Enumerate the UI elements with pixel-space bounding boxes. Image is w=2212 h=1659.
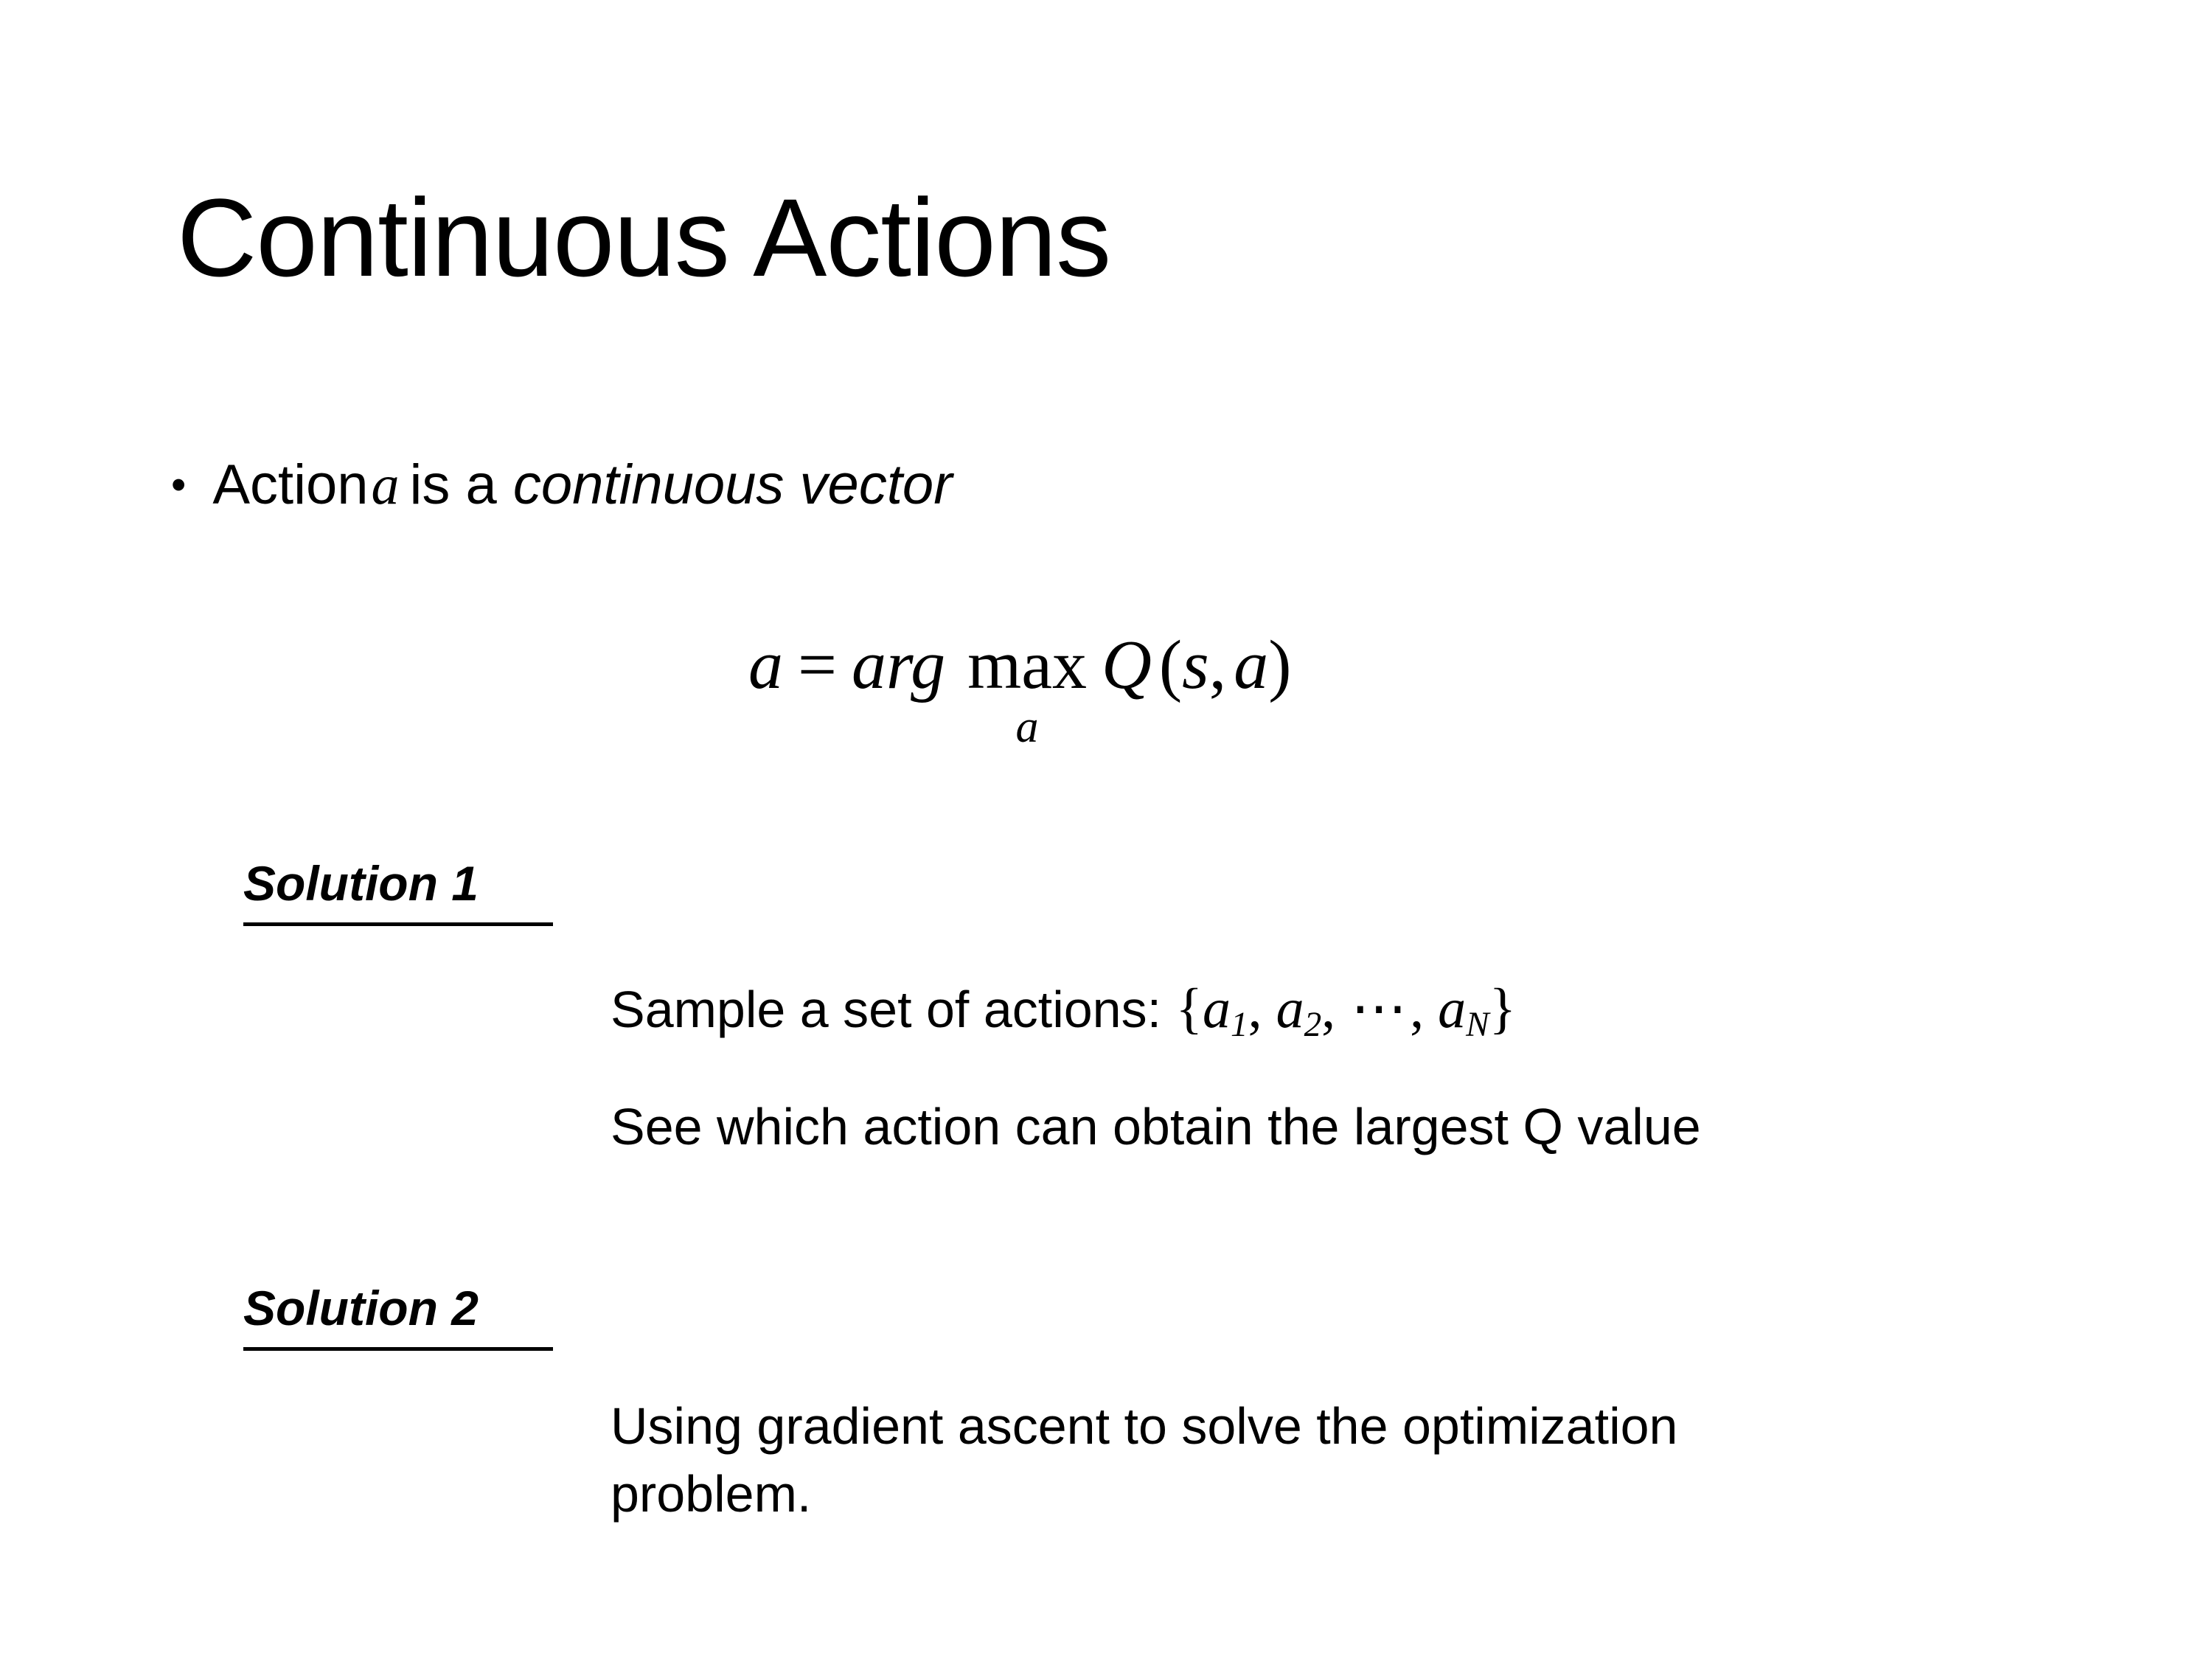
formula-max-operator: max a <box>967 630 1087 750</box>
display-formula: a = arg max a Q ( s , a ) <box>748 630 1292 750</box>
formula-q-function: Q <box>1102 630 1152 700</box>
set-open-brace: { <box>1176 978 1203 1040</box>
set-comma-2: , <box>1321 978 1335 1040</box>
set-comma-3: , <box>1410 978 1424 1040</box>
formula-state-variable: s <box>1182 630 1209 700</box>
solution-1-line-1-prefix: Sample a set of actions: <box>611 981 1161 1038</box>
solution-1-line-2: See which action can obtain the largest … <box>611 1093 1701 1161</box>
formula-lhs: a <box>748 630 783 700</box>
bullet-prefix-text: Action <box>212 450 368 520</box>
formula-equals: = <box>798 630 837 700</box>
bullet-math-variable: a <box>369 451 403 521</box>
solution-2-heading-label: Solution 2 <box>243 1281 479 1335</box>
set-element-a1: a <box>1203 978 1231 1040</box>
set-ellipsis: ⋯ <box>1349 978 1410 1040</box>
solution-1-heading-label: Solution 1 <box>243 856 479 911</box>
solution-1-underline <box>243 922 553 926</box>
set-subscript-N: N <box>1466 1006 1489 1044</box>
bullet-marker-icon: • <box>171 464 186 507</box>
solution-2-line-1: Using gradient ascent to solve the optim… <box>611 1392 1864 1528</box>
set-comma-1: , <box>1248 978 1262 1040</box>
formula-action-variable: a <box>1234 630 1268 700</box>
action-set-notation: {a1, a2, ⋯, aN} <box>1176 978 1517 1040</box>
formula-comma: , <box>1209 630 1227 700</box>
formula-max-label: max <box>967 630 1087 700</box>
set-subscript-1: 1 <box>1231 1006 1248 1044</box>
bullet-emphasis-text: continuous vector <box>513 450 953 520</box>
formula-max-subscript: a <box>1016 704 1039 750</box>
formula-open-paren: ( <box>1159 630 1182 700</box>
set-element-a2: a <box>1276 978 1304 1040</box>
solution-1-heading: Solution 1 <box>243 857 553 926</box>
formula-arg-operator: arg <box>852 630 945 700</box>
slide-canvas: Continuous Actions • Action a is a conti… <box>0 0 2212 1659</box>
solution-2-heading: Solution 2 <box>243 1281 553 1351</box>
set-close-brace: } <box>1489 978 1516 1040</box>
formula-close-paren: ) <box>1268 630 1291 700</box>
solution-2-underline <box>243 1347 553 1351</box>
bullet-middle-text: is a <box>410 450 497 520</box>
set-element-aN: a <box>1438 978 1466 1040</box>
page-title: Continuous Actions <box>177 175 1110 299</box>
bullet-item: • Action a is a continuous vector <box>171 450 953 521</box>
solution-1-line-1: Sample a set of actions: {a1, a2, ⋯, aN} <box>611 972 1516 1046</box>
set-subscript-2: 2 <box>1304 1006 1322 1044</box>
